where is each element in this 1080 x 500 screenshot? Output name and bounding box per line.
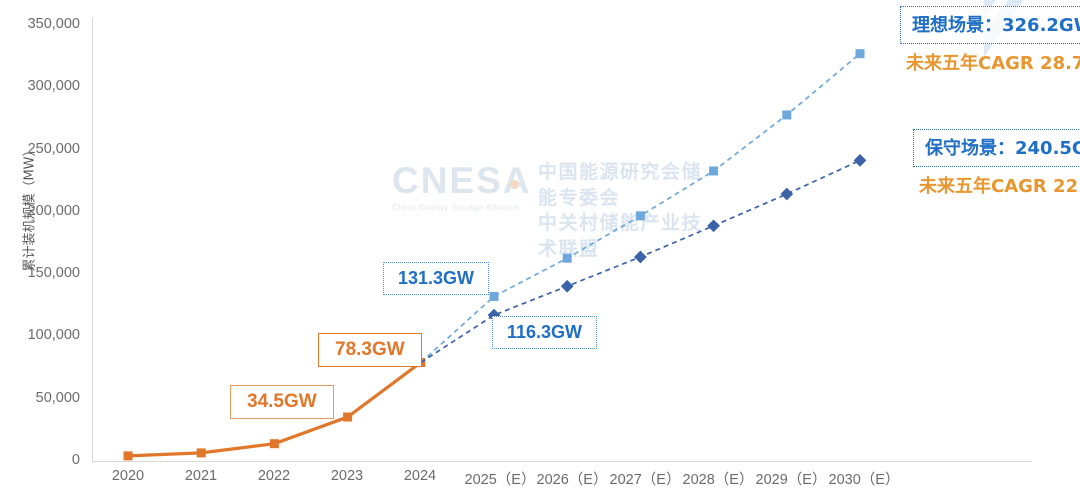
data-point-marker: [780, 188, 793, 201]
data-point-marker: [124, 451, 133, 460]
data-point-marker: [636, 211, 645, 220]
plot-area: [0, 0, 1080, 500]
data-label-116gw: 116.3GW: [492, 316, 597, 349]
data-point-marker: [854, 154, 867, 167]
callout-ideal-scenario: 理想场景：326.2GW 未来五年CAGR 28.7%: [900, 6, 1080, 75]
data-point-marker: [707, 219, 720, 232]
data-point-marker: [270, 439, 279, 448]
data-point-marker: [197, 448, 206, 457]
callout-conservative-title: 保守场景：240.5GW: [925, 138, 1080, 159]
callout-conservative-cagr: 未来五年CAGR 22.2%: [913, 172, 1080, 198]
callout-ideal-cagr: 未来五年CAGR 28.7%: [900, 49, 1080, 75]
callout-ideal-title: 理想场景：326.2GW: [912, 15, 1080, 36]
data-point-marker: [782, 110, 791, 119]
data-label-78gw: 78.3GW: [318, 333, 422, 367]
data-point-marker: [490, 292, 499, 301]
data-label-131gw: 131.3GW: [383, 262, 489, 295]
data-point-marker: [709, 166, 718, 175]
data-point-marker: [563, 254, 572, 263]
chart-container: CNESA China Energy Storage Alliance 中国能源…: [0, 0, 1080, 500]
data-point-marker: [634, 251, 647, 264]
data-point-marker: [561, 280, 574, 293]
series-line-1: [421, 54, 860, 363]
data-point-marker: [856, 49, 865, 58]
callout-conservative-box: 保守场景：240.5GW: [913, 129, 1080, 167]
data-point-marker: [343, 413, 352, 422]
callout-conservative-scenario: 保守场景：240.5GW 未来五年CAGR 22.2%: [913, 129, 1080, 198]
data-label-34gw: 34.5GW: [230, 385, 334, 419]
callout-ideal-box: 理想场景：326.2GW: [900, 6, 1080, 44]
